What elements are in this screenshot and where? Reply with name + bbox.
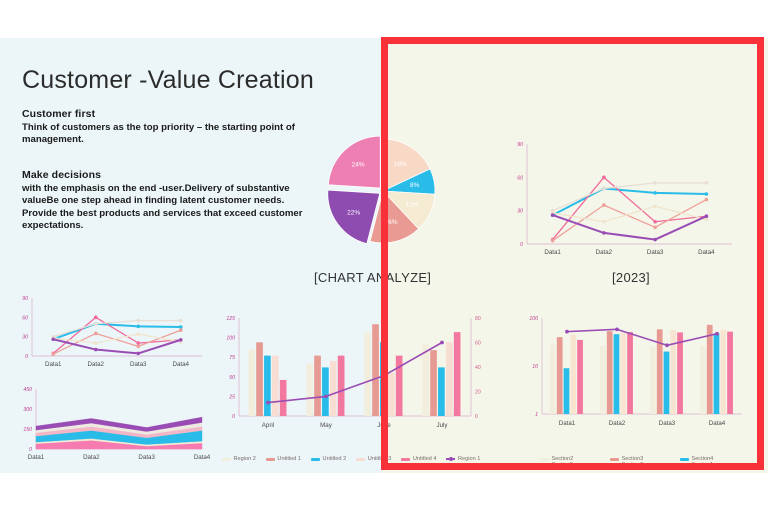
area-chart-bottom-left: 0150300450Data1Data2Data3Data4 xyxy=(10,381,210,471)
svg-text:22%: 22% xyxy=(347,209,360,216)
legend-item: Untitled 1 xyxy=(266,456,301,462)
svg-text:Data2: Data2 xyxy=(87,361,104,368)
legend-label: Region 1 xyxy=(458,456,480,462)
svg-text:50: 50 xyxy=(229,375,235,381)
svg-text:25: 25 xyxy=(228,394,235,400)
pie-chart: 18%8%12%16%22%24% xyxy=(318,126,448,256)
text-block-body: Think of customers as the top priority –… xyxy=(22,122,322,147)
caption-chart-analyze: [CHART ANALYZE] xyxy=(314,270,431,285)
svg-text:75: 75 xyxy=(229,355,235,361)
svg-text:Data2: Data2 xyxy=(83,454,100,461)
legend-swatch xyxy=(540,458,549,461)
legend-label: Untitled 4 xyxy=(413,456,437,462)
svg-text:0: 0 xyxy=(29,447,32,453)
text-block-body: with the emphasis on the end -user.Deliv… xyxy=(22,183,322,233)
legend-label: Untitled 3 xyxy=(368,456,392,462)
legend-item: Section5 xyxy=(540,462,610,468)
svg-text:10: 10 xyxy=(532,364,538,370)
svg-text:80: 80 xyxy=(475,316,481,322)
svg-text:0: 0 xyxy=(475,414,478,420)
svg-text:0: 0 xyxy=(25,354,28,360)
svg-text:1: 1 xyxy=(535,412,538,418)
legend-label: Untitled 1 xyxy=(277,456,301,462)
legend-swatch xyxy=(311,458,320,461)
svg-text:April: April xyxy=(262,422,274,429)
svg-text:June: June xyxy=(377,422,391,429)
svg-text:30: 30 xyxy=(22,335,28,341)
svg-text:100: 100 xyxy=(226,336,235,342)
svg-text:12%: 12% xyxy=(406,202,419,209)
legend-label: Section6 xyxy=(621,462,643,468)
svg-text:July: July xyxy=(436,422,448,429)
svg-text:18%: 18% xyxy=(394,161,407,168)
svg-text:90: 90 xyxy=(517,142,523,148)
svg-text:8%: 8% xyxy=(410,182,420,189)
legend-swatch xyxy=(610,464,619,467)
legend-swatch xyxy=(222,458,231,461)
svg-text:20: 20 xyxy=(475,390,481,396)
slide-canvas: Customer -Value Creation Customer first … xyxy=(0,38,768,473)
svg-text:24%: 24% xyxy=(352,162,365,169)
svg-text:Data1: Data1 xyxy=(559,420,576,427)
svg-text:Data3: Data3 xyxy=(647,249,664,256)
svg-text:Data4: Data4 xyxy=(709,420,726,427)
svg-text:0: 0 xyxy=(520,242,523,248)
screenshot-root: Customer -Value Creation Customer first … xyxy=(0,0,768,512)
svg-text:30: 30 xyxy=(517,209,523,215)
svg-text:60: 60 xyxy=(517,175,523,181)
svg-text:Data2: Data2 xyxy=(596,249,613,256)
svg-text:Data3: Data3 xyxy=(659,420,676,427)
legend-swatch xyxy=(266,458,275,461)
legend-label: Section5 xyxy=(552,462,574,468)
svg-text:300: 300 xyxy=(23,407,32,413)
line-chart-top-right: 0306090Data1Data2Data3Data4 xyxy=(505,136,740,266)
legend-swatch xyxy=(356,458,365,461)
legend-bottom-right-chart: Section2Section3Section4Section5Section6… xyxy=(540,456,750,468)
legend-center-chart: Region 2Untitled 1Untitled 2Untitled 3Un… xyxy=(222,456,502,462)
svg-text:0: 0 xyxy=(232,414,235,420)
svg-text:125: 125 xyxy=(226,316,235,322)
svg-text:16%: 16% xyxy=(385,219,398,226)
svg-text:Data4: Data4 xyxy=(172,361,189,368)
svg-text:Data3: Data3 xyxy=(130,361,147,368)
text-block-make-decisions: Make decisions with the emphasis on the … xyxy=(22,169,322,233)
bar-line-chart-center: 0255075100125020406080AprilMayJuneJuly xyxy=(213,310,503,440)
legend-item: Section1 xyxy=(680,462,750,468)
caption-year: [2023] xyxy=(612,270,650,285)
svg-text:100: 100 xyxy=(529,316,538,322)
svg-text:150: 150 xyxy=(23,427,32,433)
legend-swatch xyxy=(401,458,410,461)
legend-item: Section6 xyxy=(610,462,680,468)
legend-swatch xyxy=(610,458,619,461)
line-chart-bottom-left: 0306090Data1Data2Data3Data4 xyxy=(10,290,210,378)
legend-swatch xyxy=(540,464,549,467)
legend-item: Untitled 3 xyxy=(356,456,391,462)
svg-text:Data1: Data1 xyxy=(544,249,561,256)
legend-item: Untitled 2 xyxy=(311,456,346,462)
svg-text:Data4: Data4 xyxy=(194,454,211,461)
legend-item: Untitled 4 xyxy=(401,456,436,462)
legend-label: Untitled 2 xyxy=(323,456,347,462)
legend-swatch xyxy=(680,458,689,461)
svg-text:Data1: Data1 xyxy=(45,361,62,368)
legend-item: Region 1 xyxy=(446,456,480,462)
svg-text:Data1: Data1 xyxy=(28,454,45,461)
text-block-heading: Customer first xyxy=(22,108,322,120)
svg-text:May: May xyxy=(320,422,333,429)
svg-text:90: 90 xyxy=(22,296,28,302)
svg-text:60: 60 xyxy=(22,315,28,321)
legend-label: Region 2 xyxy=(234,456,256,462)
text-block-customer-first: Customer first Think of customers as the… xyxy=(22,108,322,147)
legend-line-marker xyxy=(680,464,689,466)
svg-text:Data2: Data2 xyxy=(609,420,626,427)
svg-text:60: 60 xyxy=(475,341,481,347)
legend-item: Region 2 xyxy=(222,456,256,462)
page-title: Customer -Value Creation xyxy=(22,66,314,95)
legend-line-marker xyxy=(446,458,455,460)
bar-line-chart-bottom-right: 110100Data1Data2Data3Data4 xyxy=(518,310,750,438)
legend-label: Section1 xyxy=(691,462,713,468)
svg-text:Data4: Data4 xyxy=(698,249,715,256)
svg-text:450: 450 xyxy=(23,387,32,393)
text-block-heading: Make decisions xyxy=(22,169,322,181)
svg-text:Data3: Data3 xyxy=(138,454,155,461)
svg-text:40: 40 xyxy=(475,365,481,371)
